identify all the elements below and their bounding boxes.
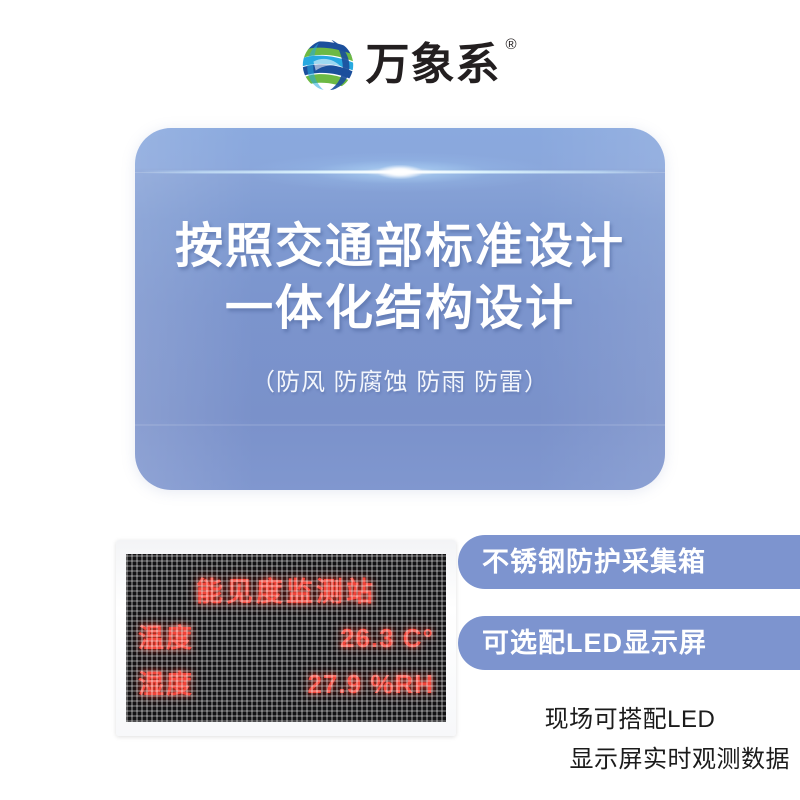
feature-banner-label-1: 不锈钢防护采集箱 [482,549,706,576]
brand-wordmark: 万象系 ® [366,43,501,87]
led-humidity-value: 27.9 %RH [308,671,435,697]
lens-flare-core-icon [378,165,422,179]
brand-logo-block: 万象系 ® [0,34,800,96]
globe-swirl-logo-icon [300,37,356,93]
hero-subtitle: （防风 防腐蚀 防雨 防雷） [135,362,665,397]
led-row-temperature: 温度 26.3 C° [138,615,434,661]
brand-wordmark-text: 万象系 [366,40,501,89]
led-display-panel: 能见度监测站 温度 26.3 C° 湿度 27.9 %RH [116,540,456,736]
led-temperature-value: 26.3 C° [340,625,434,651]
feature-banner-led-screen: 可选配LED显示屏 [458,616,800,670]
led-rows: 能见度监测站 温度 26.3 C° 湿度 27.9 %RH [126,554,446,722]
led-temperature-label: 温度 [138,625,194,651]
bottom-caption: 现场可搭配LED 显示屏实时观测数据 [470,700,790,780]
feature-banner-label-2: 可选配LED显示屏 [482,630,707,657]
led-humidity-label: 湿度 [138,671,194,697]
panel-seam-bottom [135,424,665,426]
hero-title-line-2: 一体化结构设计 [135,278,665,340]
feature-banner-stainless-box: 不锈钢防护采集箱 [458,535,800,589]
led-station-title: 能见度监测站 [196,579,376,606]
registered-trademark-icon: ® [505,37,517,52]
led-screen: 能见度监测站 温度 26.3 C° 湿度 27.9 %RH [126,554,446,722]
led-row-humidity: 湿度 27.9 %RH [138,661,434,707]
caption-line-2: 显示屏实时观测数据 [470,740,790,780]
led-title-row: 能见度监测站 [138,569,434,615]
hero-banner-panel: 按照交通部标准设计 一体化结构设计 （防风 防腐蚀 防雨 防雷） [135,128,665,490]
hero-text-group: 按照交通部标准设计 一体化结构设计 （防风 防腐蚀 防雨 防雷） [135,216,665,397]
caption-line-1: 现场可搭配LED [470,700,790,740]
hero-title-line-1: 按照交通部标准设计 [135,216,665,278]
